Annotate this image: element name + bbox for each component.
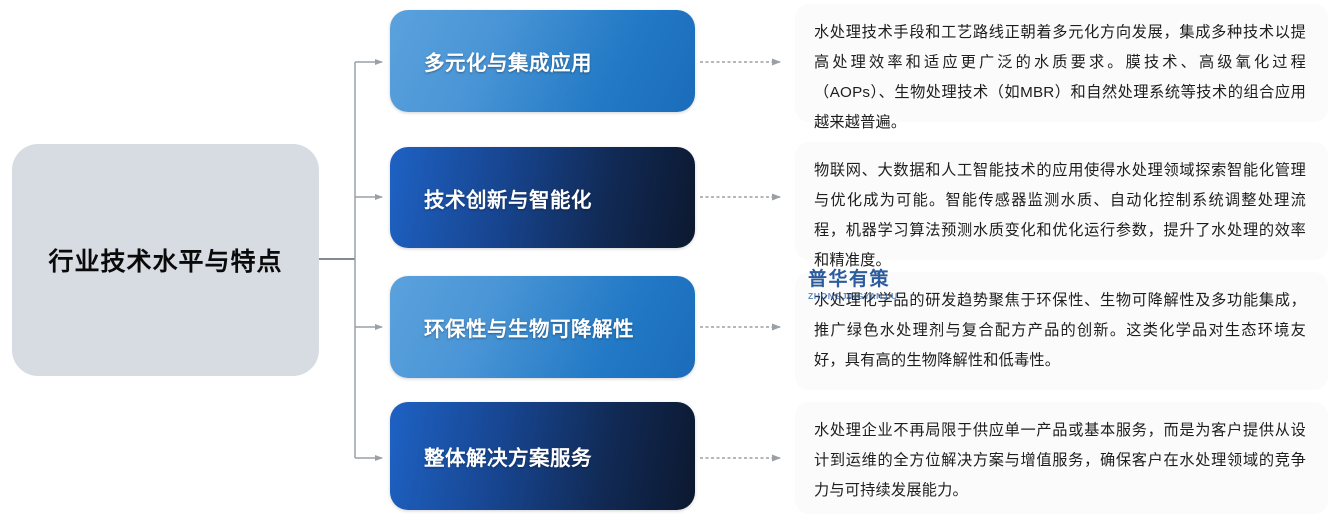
branch-node-3-label: 环保性与生物可降解性 xyxy=(390,312,634,342)
description-panel-4: 水处理企业不再局限于供应单一产品或基本服务，而是为客户提供从设计到运维的全方位解… xyxy=(795,402,1328,514)
branch-node-2-label: 技术创新与智能化 xyxy=(390,183,592,213)
description-panel-1-text: 水处理技术手段和工艺路线正朝着多元化方向发展，集成多种技术以提高处理效率和适应更… xyxy=(814,18,1306,138)
description-panel-4-text: 水处理企业不再局限于供应单一产品或基本服务，而是为客户提供从设计到运维的全方位解… xyxy=(814,416,1306,506)
root-node-label: 行业技术水平与特点 xyxy=(48,242,282,278)
branch-node-1-label: 多元化与集成应用 xyxy=(390,46,592,76)
description-panel-3-text: 水处理化学品的研发趋势聚焦于环保性、生物可降解性及多功能集成，推广绿色水处理剂与… xyxy=(814,286,1306,376)
branch-node-2[interactable]: 技术创新与智能化 xyxy=(390,147,695,248)
mindmap-diagram: 行业技术水平与特点 多元化与集成应用 技术创新与智能化 环保性与生物可降解性 整… xyxy=(0,0,1343,528)
description-panel-1: 水处理技术手段和工艺路线正朝着多元化方向发展，集成多种技术以提高处理效率和适应更… xyxy=(795,4,1328,122)
branch-node-1[interactable]: 多元化与集成应用 xyxy=(390,10,695,112)
description-panel-3: 水处理化学品的研发趋势聚焦于环保性、生物可降解性及多功能集成，推广绿色水处理剂与… xyxy=(795,272,1328,390)
branch-node-3[interactable]: 环保性与生物可降解性 xyxy=(390,276,695,378)
root-node[interactable]: 行业技术水平与特点 xyxy=(12,144,319,376)
description-panel-2-text: 物联网、大数据和人工智能技术的应用使得水处理领域探索智能化管理与优化成为可能。智… xyxy=(814,156,1306,276)
branch-node-4[interactable]: 整体解决方案服务 xyxy=(390,402,695,510)
branch-node-4-label: 整体解决方案服务 xyxy=(390,441,592,471)
description-panel-2: 物联网、大数据和人工智能技术的应用使得水处理领域探索智能化管理与优化成为可能。智… xyxy=(795,142,1328,260)
